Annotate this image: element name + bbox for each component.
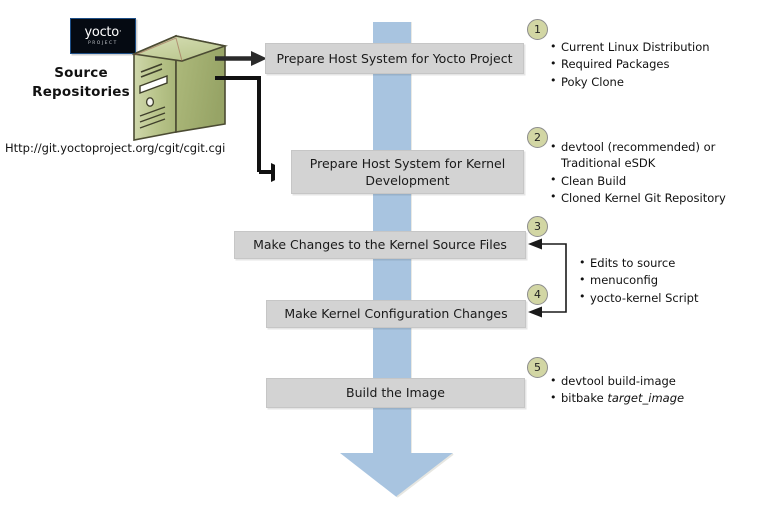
logo-wordmark: yocto· — [85, 26, 122, 39]
note-item: devtool (recommended) or Traditional eSD… — [550, 139, 764, 172]
step-circle-2: 2 — [527, 127, 548, 148]
process-box-label: Prepare Host System for Yocto Project — [277, 50, 513, 67]
step-number: 1 — [534, 23, 541, 36]
source-label-line1: Source — [22, 64, 140, 83]
connector-bracket-steps-3-4 — [524, 238, 578, 318]
notes-step-1: Current Linux Distribution Required Pack… — [550, 39, 764, 91]
note-item: devtool build-image — [550, 373, 764, 389]
note-item: Required Packages — [550, 56, 764, 72]
server-tower-icon — [132, 28, 228, 141]
step-number: 4 — [534, 288, 541, 301]
logo-wordmark-text: yocto — [85, 25, 119, 40]
process-box-label: Build the Image — [346, 384, 445, 401]
note-item: Current Linux Distribution — [550, 39, 764, 55]
process-box-prepare-host-kernel[interactable]: Prepare Host System for Kernel Developme… — [291, 150, 524, 194]
notes-steps-3-4: Edits to source menuconfig yocto-kernel … — [579, 255, 764, 307]
diagram-canvas: yocto· PROJECT Source Repositories Http:… — [0, 0, 769, 517]
note-item: Cloned Kernel Git Repository — [550, 190, 764, 206]
note-item: yocto-kernel Script — [579, 290, 764, 306]
process-box-prepare-host-yocto[interactable]: Prepare Host System for Yocto Project — [265, 43, 524, 74]
note-item: Edits to source — [579, 255, 764, 271]
step-number: 3 — [534, 220, 541, 233]
yocto-project-logo: yocto· PROJECT — [70, 18, 136, 54]
step-number: 2 — [534, 131, 541, 144]
step-circle-1: 1 — [527, 19, 548, 40]
process-box-label: Make Kernel Configuration Changes — [284, 305, 507, 322]
logo-dot: · — [119, 27, 122, 37]
notes-step-2: devtool (recommended) or Traditional eSD… — [550, 139, 764, 207]
step-number: 5 — [534, 361, 541, 374]
note-item-prefix: bitbake — [561, 391, 607, 405]
source-repositories-label: Source Repositories — [22, 64, 140, 102]
repository-url-label: Http://git.yoctoproject.org/cgit/cgit.cg… — [5, 141, 225, 155]
logo-subtitle: PROJECT — [88, 41, 118, 46]
process-box-label: Prepare Host System for Kernel Developme… — [298, 155, 517, 190]
step-circle-4: 4 — [527, 284, 548, 305]
process-box-make-source-changes[interactable]: Make Changes to the Kernel Source Files — [234, 231, 526, 259]
process-box-label: Make Changes to the Kernel Source Files — [253, 236, 507, 253]
step-circle-3: 3 — [527, 216, 548, 237]
notes-step-5: devtool build-image bitbake target_image — [550, 373, 764, 408]
note-item: Poky Clone — [550, 74, 764, 90]
note-item: menuconfig — [579, 272, 764, 288]
flow-arrow-head — [339, 452, 454, 498]
step-circle-5: 5 — [527, 357, 548, 378]
note-item: Clean Build — [550, 173, 764, 189]
source-label-line2: Repositories — [22, 83, 140, 102]
note-item: bitbake target_image — [550, 390, 764, 406]
process-box-build-image[interactable]: Build the Image — [266, 378, 525, 408]
process-box-make-config-changes[interactable]: Make Kernel Configuration Changes — [266, 300, 526, 328]
note-item-emphasis: target_image — [607, 391, 684, 405]
